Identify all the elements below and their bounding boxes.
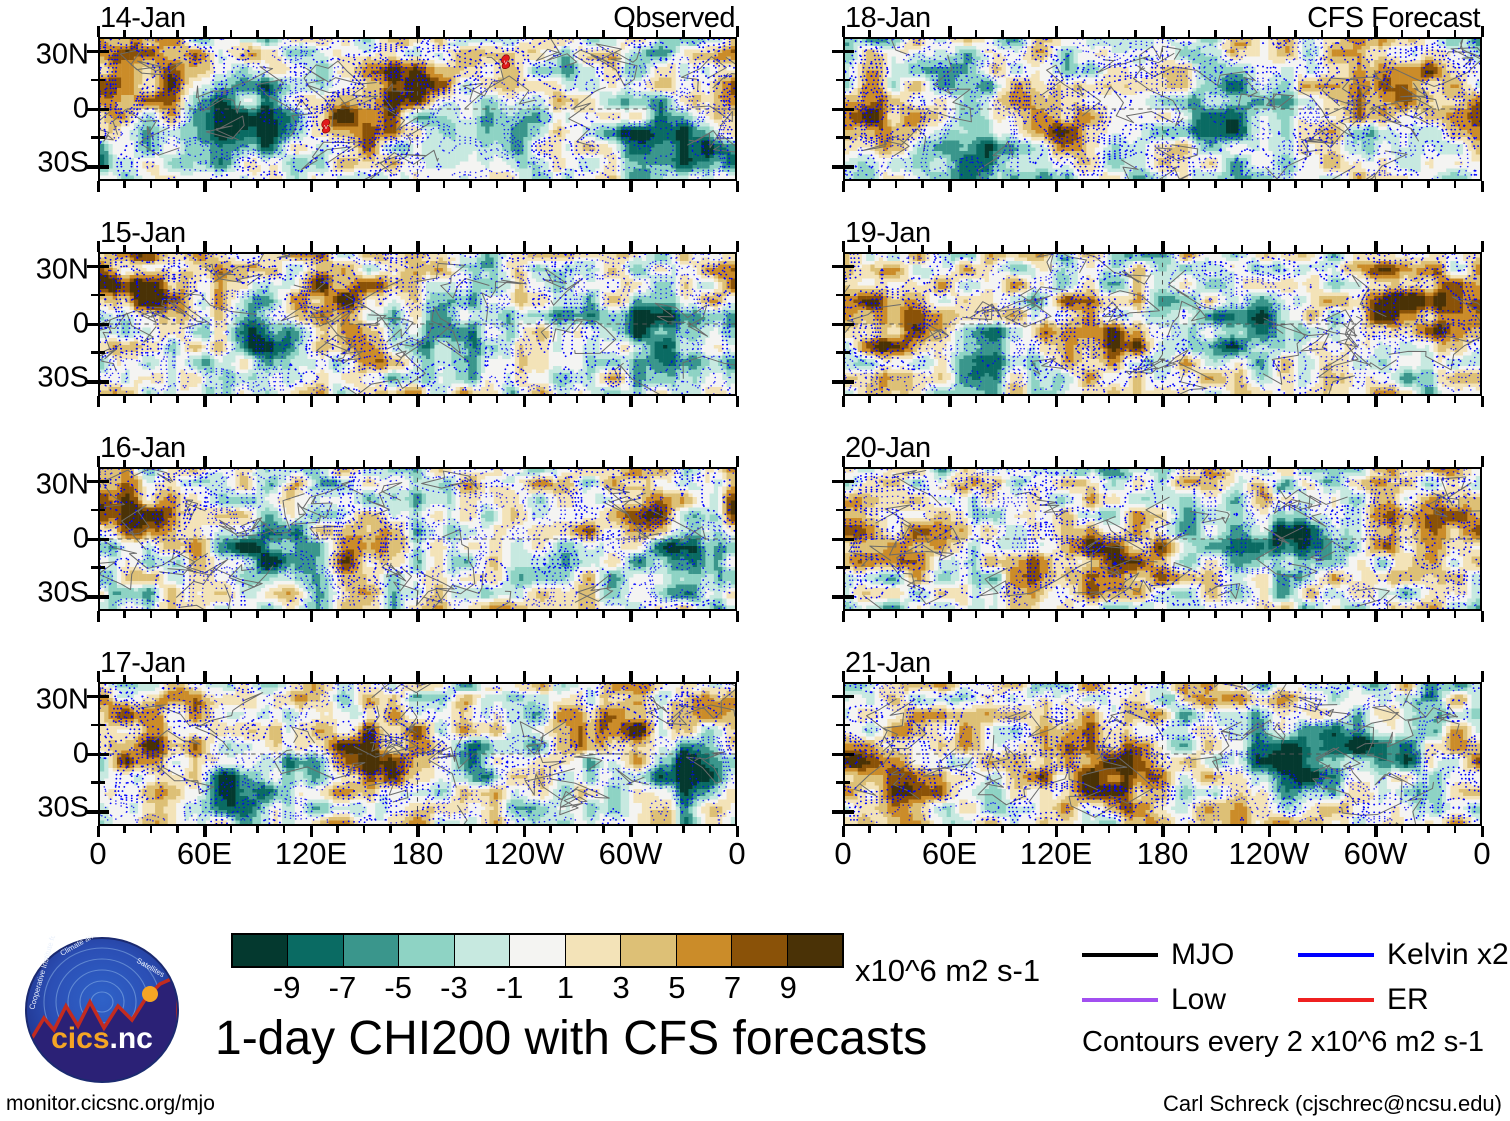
legend-line-swatch (1082, 953, 1158, 957)
axis-tick (1081, 181, 1084, 188)
axis-tick (549, 826, 552, 833)
axis-tick (496, 675, 499, 682)
axis-tick (1374, 671, 1378, 682)
axis-tick (549, 30, 552, 37)
axis-tick (1427, 460, 1430, 467)
axis-tick (496, 181, 499, 188)
colorbar-swatch (288, 935, 343, 966)
axis-tick (576, 460, 579, 467)
axis-tick (1454, 396, 1457, 403)
axis-tick (576, 181, 579, 188)
colorbar (231, 933, 844, 968)
axis-tick (98, 595, 109, 599)
axis-tick (1134, 826, 1137, 833)
axis-tick (1108, 460, 1111, 467)
axis-tick (336, 245, 339, 252)
axis-tick (1108, 245, 1111, 252)
panel-date-label: 19-Jan (845, 219, 931, 248)
axis-tick (843, 595, 854, 599)
axis-tick (98, 753, 109, 757)
axis-tick (310, 26, 314, 37)
source-url[interactable]: monitor.cicsnc.org/mjo (6, 1093, 215, 1114)
axis-tick (1427, 826, 1430, 833)
axis-tick (123, 396, 126, 403)
axis-tick (868, 245, 871, 252)
axis-tick (1374, 611, 1378, 622)
axis-tick (1001, 460, 1004, 467)
axis-tick (176, 675, 179, 682)
axis-tick (1028, 396, 1031, 403)
axis-tick (91, 351, 98, 354)
map-panel-16-jan: 16-Jan 30N030S (98, 467, 737, 611)
axis-tick (709, 826, 712, 833)
axis-tick (336, 30, 339, 37)
axis-tick (150, 611, 153, 618)
axis-tick (496, 396, 499, 403)
axis-tick (523, 241, 527, 252)
axis-tick (921, 460, 924, 467)
axis-tick (868, 460, 871, 467)
axis-tick (97, 396, 101, 407)
map-panel-20-jan: 20-Jan (843, 467, 1482, 611)
axis-tick (230, 675, 233, 682)
axis-tick (1347, 611, 1350, 618)
axis-tick (836, 509, 843, 512)
axis-tick (1108, 611, 1111, 618)
y-axis-label: 0 (73, 740, 89, 769)
axis-tick (98, 136, 105, 139)
axis-tick (443, 396, 446, 403)
axis-tick (682, 675, 685, 682)
axis-tick (1161, 26, 1165, 37)
axis-tick (176, 245, 179, 252)
axis-tick (123, 826, 126, 833)
panel-date-label: 20-Jan (845, 434, 931, 463)
legend-label: ER (1387, 985, 1429, 1015)
axis-tick (203, 26, 207, 37)
axis-tick (416, 26, 420, 37)
axis-tick (576, 245, 579, 252)
map-panel-14-jan: 14-JanObserved V V 30N030S (98, 37, 737, 181)
axis-tick (150, 245, 153, 252)
axis-tick (230, 245, 233, 252)
axis-tick (602, 675, 605, 682)
axis-tick (736, 181, 740, 192)
axis-tick (1427, 181, 1430, 188)
axis-tick (921, 245, 924, 252)
axis-tick (1401, 826, 1404, 833)
axis-tick (843, 136, 850, 139)
axis-tick (203, 671, 207, 682)
axis-tick (975, 826, 978, 833)
axis-tick (256, 826, 259, 833)
axis-tick (150, 460, 153, 467)
axis-tick (123, 675, 126, 682)
axis-tick (1347, 460, 1350, 467)
axis-tick (98, 695, 109, 699)
axis-tick (709, 245, 712, 252)
axis-tick (682, 181, 685, 188)
axis-tick (1081, 611, 1084, 618)
axis-tick (1268, 241, 1272, 252)
axis-tick (1321, 30, 1324, 37)
axis-tick (98, 108, 109, 112)
axis-tick (496, 30, 499, 37)
legend-entry-kelvin-x2: Kelvin x2 (1298, 940, 1509, 970)
axis-tick (1268, 611, 1272, 622)
axis-tick (948, 396, 952, 407)
axis-tick (1188, 675, 1191, 682)
axis-tick (1028, 30, 1031, 37)
axis-tick (363, 396, 366, 403)
axis-tick (1321, 826, 1324, 833)
axis-tick (98, 566, 105, 569)
colorbar-tick: -3 (440, 972, 468, 1003)
axis-tick (416, 241, 420, 252)
y-axis-label: 0 (73, 310, 89, 339)
axis-tick (523, 396, 527, 407)
axis-tick (1321, 611, 1324, 618)
axis-tick (283, 396, 286, 403)
axis-tick (843, 781, 850, 784)
axis-tick (868, 675, 871, 682)
axis-tick (1241, 30, 1244, 37)
axis-tick (97, 26, 101, 37)
axis-tick (443, 460, 446, 467)
axis-tick (523, 181, 527, 192)
axis-tick (1321, 181, 1324, 188)
axis-tick (1321, 396, 1324, 403)
axis-tick (948, 241, 952, 252)
y-axis-label: 30N (36, 256, 89, 285)
x-axis-label: 180 (392, 838, 444, 869)
axis-tick (91, 724, 98, 727)
axis-tick (1108, 675, 1111, 682)
axis-tick (98, 724, 105, 727)
axis-tick (1268, 671, 1272, 682)
panel-date-label: 18-Jan (845, 4, 931, 33)
map-canvas (98, 682, 737, 826)
axis-tick (656, 396, 659, 403)
axis-tick (496, 826, 499, 833)
axis-tick (836, 566, 843, 569)
axis-tick (523, 456, 527, 467)
axis-tick (1374, 26, 1378, 37)
axis-tick (1481, 396, 1485, 407)
axis-tick (1055, 241, 1059, 252)
axis-tick (283, 675, 286, 682)
x-axis-label: 120W (484, 838, 565, 869)
axis-tick (469, 245, 472, 252)
axis-tick (842, 241, 846, 252)
axis-tick (656, 30, 659, 37)
colorbar-tick: -5 (384, 972, 412, 1003)
axis-tick (1001, 245, 1004, 252)
axis-tick (1214, 460, 1217, 467)
axis-tick (1108, 826, 1111, 833)
axis-tick (1347, 675, 1350, 682)
colorbar-swatch (344, 935, 399, 966)
axis-tick (1161, 456, 1165, 467)
axis-tick (1268, 396, 1272, 407)
axis-tick (836, 79, 843, 82)
axis-tick (150, 675, 153, 682)
axis-tick (1134, 245, 1137, 252)
axis-tick (283, 460, 286, 467)
axis-tick (832, 323, 843, 327)
axis-tick (283, 826, 286, 833)
axis-tick (1481, 611, 1485, 622)
axis-tick (1454, 181, 1457, 188)
axis-tick (832, 380, 843, 384)
axis-tick (1214, 181, 1217, 188)
axis-tick (1081, 460, 1084, 467)
x-axis-labels: 060E120E180120W60W0 (98, 838, 737, 882)
map-canvas (843, 37, 1482, 181)
axis-tick (656, 181, 659, 188)
axis-tick (416, 671, 420, 682)
axis-tick (682, 826, 685, 833)
axis-tick (1294, 396, 1297, 403)
axis-tick (256, 181, 259, 188)
axis-tick (123, 30, 126, 37)
axis-tick (1241, 675, 1244, 682)
axis-tick (1294, 181, 1297, 188)
axis-tick (1188, 460, 1191, 467)
axis-tick (469, 826, 472, 833)
axis-tick (203, 181, 207, 192)
axis-tick (363, 30, 366, 37)
axis-tick (176, 30, 179, 37)
axis-tick (97, 611, 101, 622)
axis-tick (1055, 671, 1059, 682)
axis-tick (1161, 671, 1165, 682)
axis-tick (1188, 30, 1191, 37)
axis-tick (389, 396, 392, 403)
x-axis-label: 60W (599, 838, 663, 869)
axis-tick (576, 826, 579, 833)
axis-tick (230, 30, 233, 37)
axis-tick (416, 611, 420, 622)
axis-tick (389, 181, 392, 188)
axis-tick (98, 351, 105, 354)
axis-tick (91, 566, 98, 569)
axis-tick (1161, 611, 1165, 622)
axis-tick (443, 611, 446, 618)
axis-tick (389, 826, 392, 833)
legend-area: cics.nc Cooperative Institute for Climat… (0, 900, 1510, 1121)
axis-tick (389, 611, 392, 618)
axis-tick (363, 826, 366, 833)
map-panel-19-jan: 19-Jan (843, 252, 1482, 396)
axis-tick (1268, 26, 1272, 37)
axis-tick (363, 181, 366, 188)
axis-tick (1055, 181, 1059, 192)
axis-tick (1481, 456, 1485, 467)
axis-tick (443, 30, 446, 37)
axis-tick (629, 396, 633, 407)
colorbar-swatch (510, 935, 565, 966)
axis-tick (1134, 460, 1137, 467)
axis-tick (975, 460, 978, 467)
axis-tick (843, 351, 850, 354)
axis-tick (832, 108, 843, 112)
axis-tick (523, 611, 527, 622)
axis-tick (1481, 181, 1485, 192)
y-axis-label: 30N (36, 686, 89, 715)
axis-tick (230, 460, 233, 467)
axis-tick (842, 456, 846, 467)
axis-tick (91, 136, 98, 139)
axis-tick (895, 30, 898, 37)
axis-tick (176, 181, 179, 188)
axis-tick (1028, 245, 1031, 252)
axis-tick (98, 294, 105, 297)
axis-tick (1374, 456, 1378, 467)
colorbar-tick: -9 (273, 972, 301, 1003)
axis-tick (1134, 611, 1137, 618)
axis-tick (389, 30, 392, 37)
x-axis-label: 0 (89, 838, 106, 869)
axis-tick (150, 30, 153, 37)
y-axis-label: 30N (36, 41, 89, 70)
axis-tick (336, 396, 339, 403)
colorbar-tick: 5 (668, 972, 685, 1003)
axis-tick (98, 509, 105, 512)
axis-tick (310, 181, 314, 192)
colorbar-swatch (455, 935, 510, 966)
axis-tick (1188, 396, 1191, 403)
axis-tick (150, 396, 153, 403)
axis-tick (843, 753, 854, 757)
axis-tick (1188, 245, 1191, 252)
axis-tick (1454, 460, 1457, 467)
x-axis-label: 0 (834, 838, 851, 869)
axis-tick (836, 136, 843, 139)
axis-tick (1214, 826, 1217, 833)
axis-tick (283, 30, 286, 37)
map-canvas (843, 682, 1482, 826)
axis-tick (256, 460, 259, 467)
axis-tick (549, 396, 552, 403)
axis-tick (1454, 611, 1457, 618)
axis-tick (389, 245, 392, 252)
x-axis-label: 60W (1344, 838, 1408, 869)
axis-tick (336, 181, 339, 188)
axis-tick (97, 671, 101, 682)
axis-tick (389, 675, 392, 682)
axis-tick (469, 396, 472, 403)
axis-tick (336, 460, 339, 467)
axis-tick (1481, 241, 1485, 252)
axis-tick (1028, 611, 1031, 618)
axis-tick (832, 753, 843, 757)
axis-tick (97, 181, 101, 192)
colorbar-swatch (621, 935, 676, 966)
axis-tick (203, 611, 207, 622)
axis-tick (1108, 30, 1111, 37)
axis-tick (230, 181, 233, 188)
axis-tick (1401, 396, 1404, 403)
panel-date-label: 15-Jan (100, 219, 186, 248)
axis-tick (682, 245, 685, 252)
axis-tick (1081, 826, 1084, 833)
axis-tick (1214, 611, 1217, 618)
axis-tick (1241, 826, 1244, 833)
axis-tick (709, 396, 712, 403)
colorbar-swatch (233, 935, 288, 966)
axis-tick (1427, 245, 1430, 252)
axis-tick (496, 611, 499, 618)
axis-tick (1028, 460, 1031, 467)
axis-tick (1321, 245, 1324, 252)
axis-tick (629, 671, 633, 682)
axis-tick (1401, 611, 1404, 618)
axis-tick (576, 30, 579, 37)
axis-tick (948, 181, 952, 192)
axis-tick (602, 396, 605, 403)
axis-tick (310, 611, 314, 622)
map-panel-21-jan: 21-Jan 060E120E180120W60W0 (843, 682, 1482, 826)
axis-tick (843, 294, 850, 297)
axis-tick (523, 671, 527, 682)
axis-tick (1321, 460, 1324, 467)
axis-tick (336, 675, 339, 682)
axis-tick (836, 294, 843, 297)
y-axis-label: 30S (37, 149, 89, 178)
axis-tick (842, 396, 846, 407)
axis-tick (230, 396, 233, 403)
axis-tick (895, 611, 898, 618)
axis-tick (629, 611, 633, 622)
legend-line-swatch (1082, 998, 1158, 1002)
colorbar-swatch (732, 935, 787, 966)
axis-tick (123, 460, 126, 467)
axis-tick (91, 781, 98, 784)
axis-tick (843, 509, 850, 512)
axis-tick (948, 611, 952, 622)
axis-tick (443, 181, 446, 188)
axis-tick (363, 460, 366, 467)
axis-tick (549, 675, 552, 682)
colorbar-swatch (788, 935, 842, 966)
axis-tick (1347, 396, 1350, 403)
panel-date-label: 17-Jan (100, 649, 186, 678)
axis-tick (832, 538, 843, 542)
axis-tick (123, 245, 126, 252)
axis-tick (629, 26, 633, 37)
x-axis-label: 60E (177, 838, 232, 869)
axis-tick (868, 181, 871, 188)
axis-tick (602, 30, 605, 37)
axis-tick (1241, 611, 1244, 618)
axis-tick (1294, 460, 1297, 467)
colorbar-swatch (566, 935, 621, 966)
axis-tick (656, 675, 659, 682)
axis-tick (416, 396, 420, 407)
axis-tick (709, 181, 712, 188)
axis-tick (1001, 611, 1004, 618)
axis-tick (1055, 611, 1059, 622)
axis-tick (283, 611, 286, 618)
axis-tick (443, 675, 446, 682)
axis-tick (921, 675, 924, 682)
axis-tick (1028, 826, 1031, 833)
axis-tick (948, 456, 952, 467)
legend-label: MJO (1171, 940, 1234, 970)
axis-tick (443, 826, 446, 833)
axis-tick (948, 671, 952, 682)
